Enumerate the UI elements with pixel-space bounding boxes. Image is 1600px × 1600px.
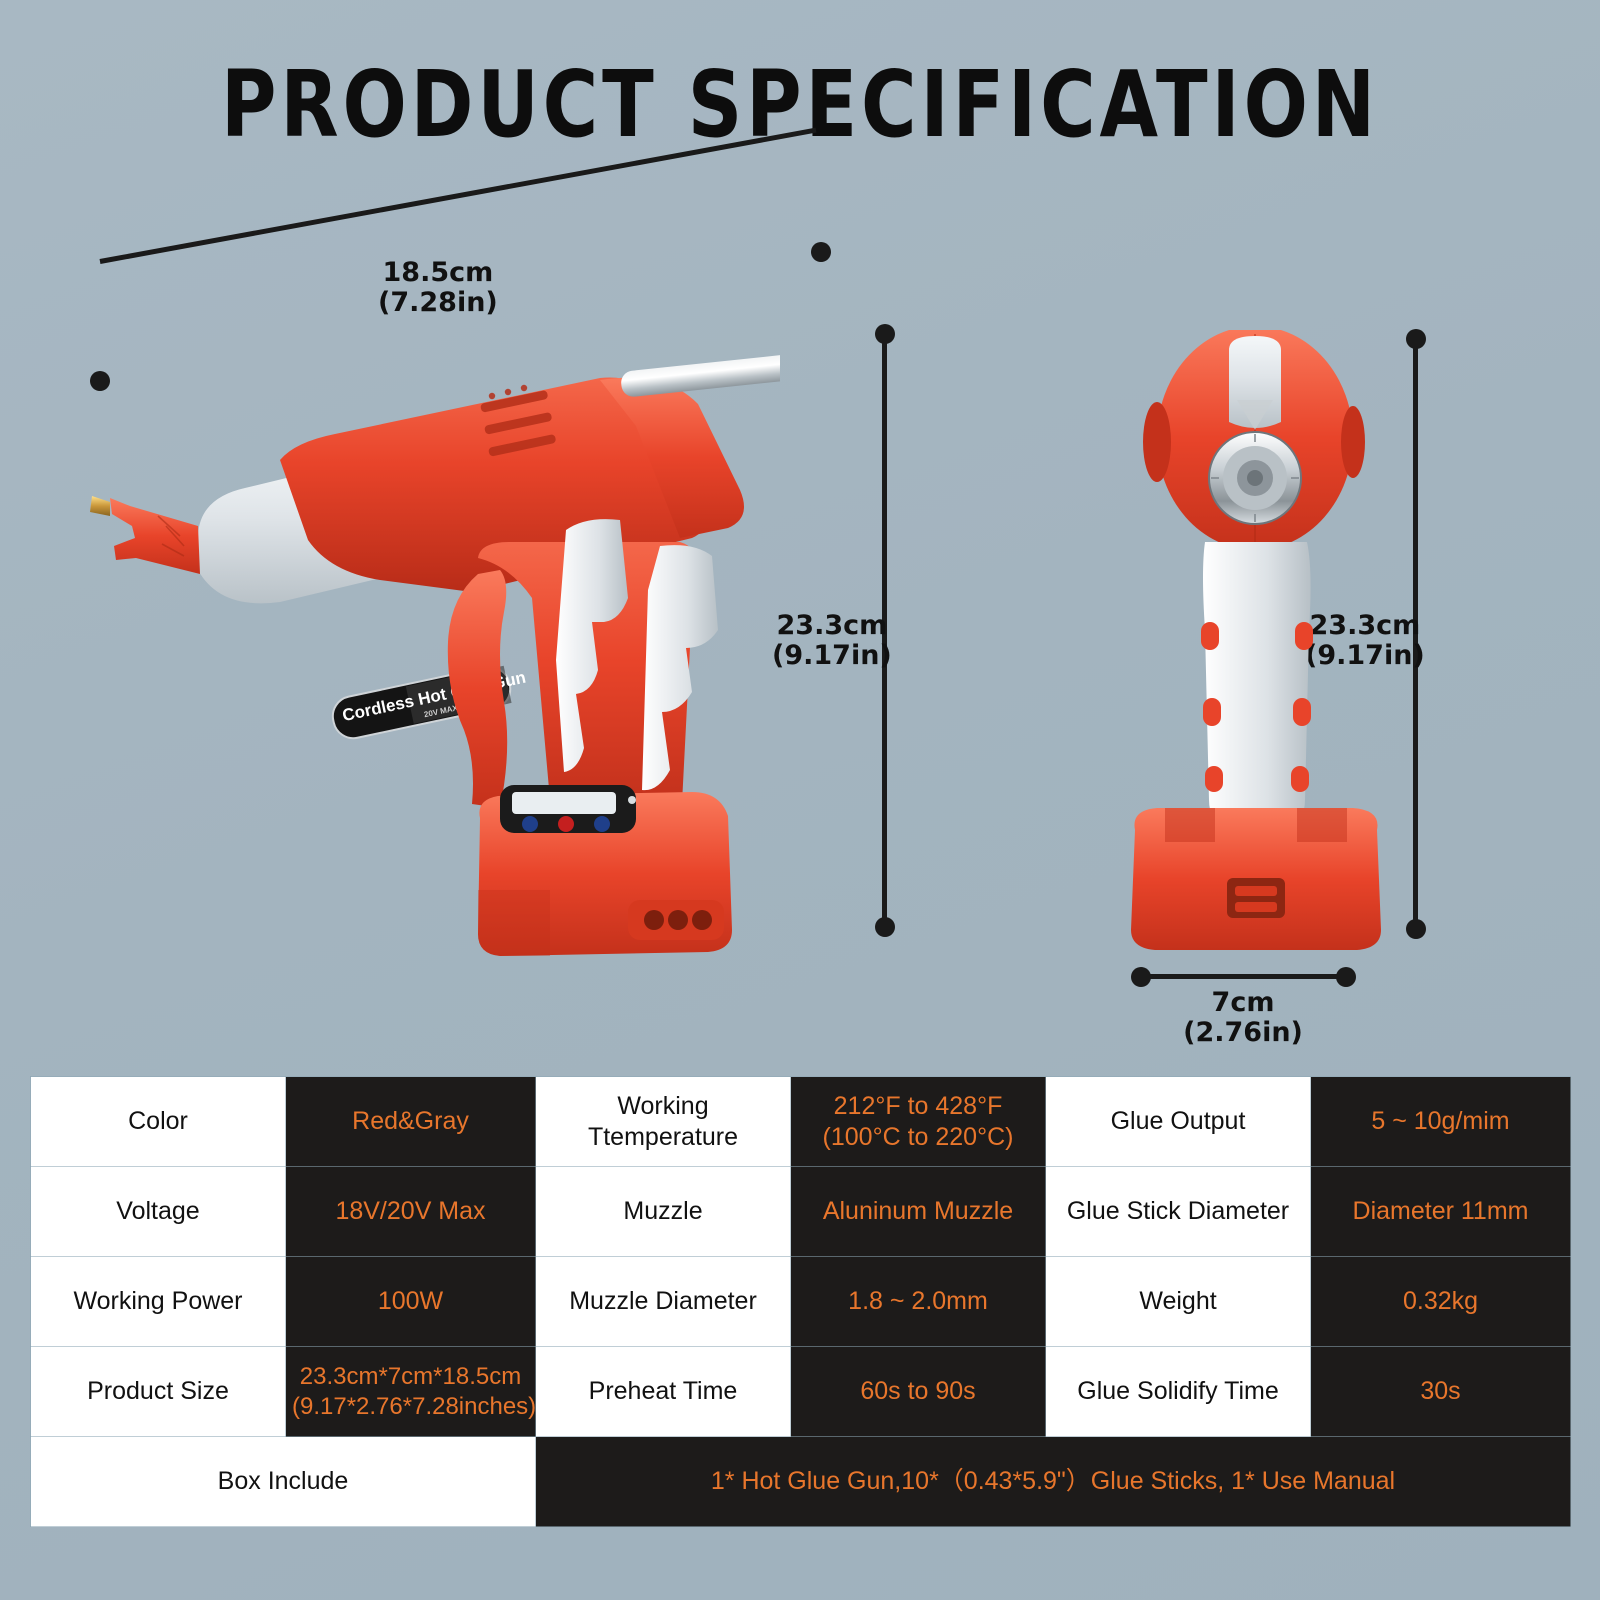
spec-value-glue-solidify-time: 30s bbox=[1311, 1347, 1571, 1437]
spec-value-muzzle-diameter: 1.8 ~ 2.0mm bbox=[791, 1257, 1046, 1347]
table-row: Product Size 23.3cm*7cm*18.5cm (9.17*2.7… bbox=[31, 1347, 1571, 1437]
table-row: Color Red&Gray Working Ttemperature 212°… bbox=[31, 1077, 1571, 1167]
rear-height-dot-top bbox=[1406, 329, 1426, 349]
spec-key-color: Color bbox=[31, 1077, 286, 1167]
spec-key-glue-output: Glue Output bbox=[1046, 1077, 1311, 1167]
spec-value-working-temperature: 212°F to 428°F (100°C to 220°C) bbox=[791, 1077, 1046, 1167]
side-height-dot-bottom bbox=[875, 917, 895, 937]
product-specification-page: PRODUCT SPECIFICATION 18.5cm (7.28in) 23… bbox=[0, 0, 1600, 1600]
glue-gun-rear-view-image bbox=[1105, 330, 1405, 970]
length-dimension-cm: 18.5cm bbox=[383, 257, 494, 288]
spec-key-product-size: Product Size bbox=[31, 1347, 286, 1437]
length-dimension-label: 18.5cm (7.28in) bbox=[378, 258, 498, 318]
spec-value-product-size: 23.3cm*7cm*18.5cm (9.17*2.76*7.28inches) bbox=[286, 1347, 536, 1437]
spec-key-working-temperature: Working Ttemperature bbox=[536, 1077, 791, 1167]
spec-key-working-power: Working Power bbox=[31, 1257, 286, 1347]
spec-value-working-power: 100W bbox=[286, 1257, 536, 1347]
spec-value-preheat-time: 60s to 90s bbox=[791, 1347, 1046, 1437]
spec-value-glue-stick-diameter: Diameter 11mm bbox=[1311, 1167, 1571, 1257]
width-dimension-dot-right bbox=[1336, 967, 1356, 987]
spec-value-weight: 0.32kg bbox=[1311, 1257, 1571, 1347]
spec-key-box-include: Box Include bbox=[31, 1437, 536, 1527]
side-height-inch: (9.17in) bbox=[772, 640, 892, 671]
spec-key-preheat-time: Preheat Time bbox=[536, 1347, 791, 1437]
page-title: PRODUCT SPECIFICATION bbox=[24, 52, 1576, 158]
side-height-dot-top bbox=[875, 324, 895, 344]
rear-height-dot-bottom bbox=[1406, 919, 1426, 939]
spec-value-box-include: 1* Hot Glue Gun,10*（0.43*5.9"）Glue Stick… bbox=[536, 1437, 1571, 1527]
length-dimension-inch: (7.28in) bbox=[378, 287, 498, 318]
table-row: Voltage 18V/20V Max Muzzle Aluninum Muzz… bbox=[31, 1167, 1571, 1257]
glue-gun-side-view-image: Cordless Hot Glue Gun 20V MAX LITHIUM bbox=[80, 330, 780, 970]
table-row: Working Power 100W Muzzle Diameter 1.8 ~… bbox=[31, 1257, 1571, 1347]
specification-table: Color Red&Gray Working Ttemperature 212°… bbox=[30, 1076, 1571, 1527]
spec-key-voltage: Voltage bbox=[31, 1167, 286, 1257]
spec-key-glue-stick-diameter: Glue Stick Diameter bbox=[1046, 1167, 1311, 1257]
spec-value-voltage: 18V/20V Max bbox=[286, 1167, 536, 1257]
side-height-cm: 23.3cm bbox=[777, 610, 888, 641]
table-row-box-include: Box Include 1* Hot Glue Gun,10*（0.43*5.9… bbox=[31, 1437, 1571, 1527]
width-dimension-inch: (2.76in) bbox=[1183, 1017, 1303, 1048]
spec-key-glue-solidify-time: Glue Solidify Time bbox=[1046, 1347, 1311, 1437]
length-dimension-dot-right bbox=[811, 242, 831, 262]
spec-key-muzzle-diameter: Muzzle Diameter bbox=[536, 1257, 791, 1347]
width-dimension-line bbox=[1140, 974, 1345, 979]
spec-value-glue-output: 5 ~ 10g/mim bbox=[1311, 1077, 1571, 1167]
spec-value-muzzle: Aluninum Muzzle bbox=[791, 1167, 1046, 1257]
width-dimension-cm: 7cm bbox=[1212, 987, 1275, 1018]
spec-value-color: Red&Gray bbox=[286, 1077, 536, 1167]
width-dimension-dot-left bbox=[1131, 967, 1151, 987]
spec-key-weight: Weight bbox=[1046, 1257, 1311, 1347]
width-dimension-label: 7cm (2.76in) bbox=[1148, 988, 1338, 1048]
side-height-dimension-label: 23.3cm (9.17in) bbox=[772, 611, 892, 671]
spec-key-muzzle: Muzzle bbox=[536, 1167, 791, 1257]
